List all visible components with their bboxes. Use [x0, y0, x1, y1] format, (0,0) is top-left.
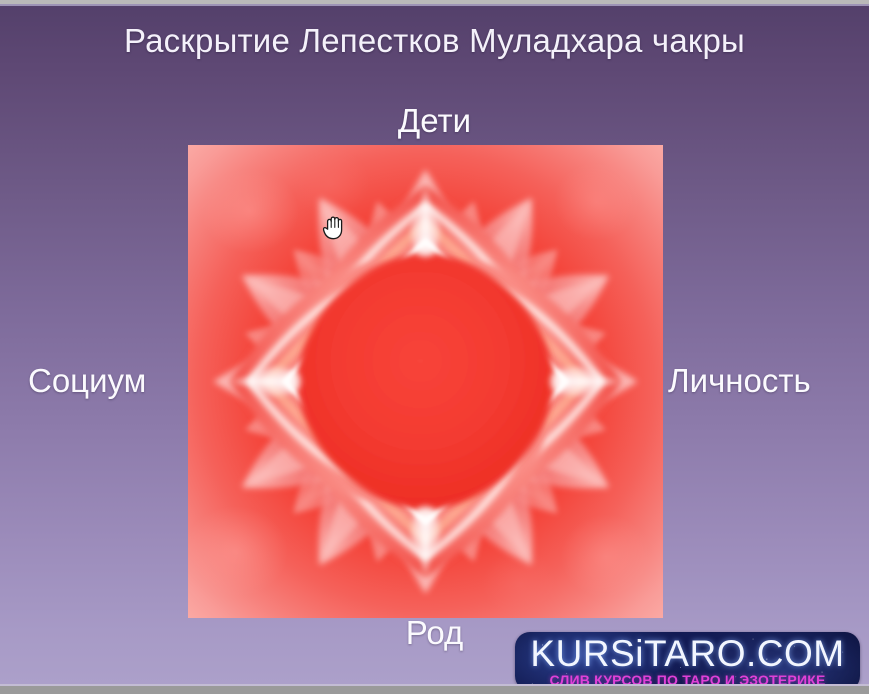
- chakra-image[interactable]: [188, 145, 663, 618]
- grab-hand-cursor: [321, 216, 343, 240]
- watermark-title: KURSiTARO.COM: [515, 633, 860, 675]
- screenshot-stage: Раскрытие Лепестков Муладхара чакры Дети…: [0, 0, 869, 694]
- page-title: Раскрытие Лепестков Муладхара чакры: [0, 22, 869, 60]
- watermark-badge[interactable]: KURSiTARO.COM СЛИВ КУРСОВ ПО ТАРО И ЭЗОТ…: [515, 632, 860, 691]
- window-bottom-edge: [0, 686, 869, 694]
- lotus-mandala-graphic: [188, 145, 663, 618]
- presentation-slide: Раскрытие Лепестков Муладхара чакры Дети…: [0, 6, 869, 686]
- label-left-socium: Социум: [28, 362, 146, 400]
- label-right-lichnost: Личность: [668, 362, 811, 400]
- label-top-deti: Дети: [0, 102, 869, 140]
